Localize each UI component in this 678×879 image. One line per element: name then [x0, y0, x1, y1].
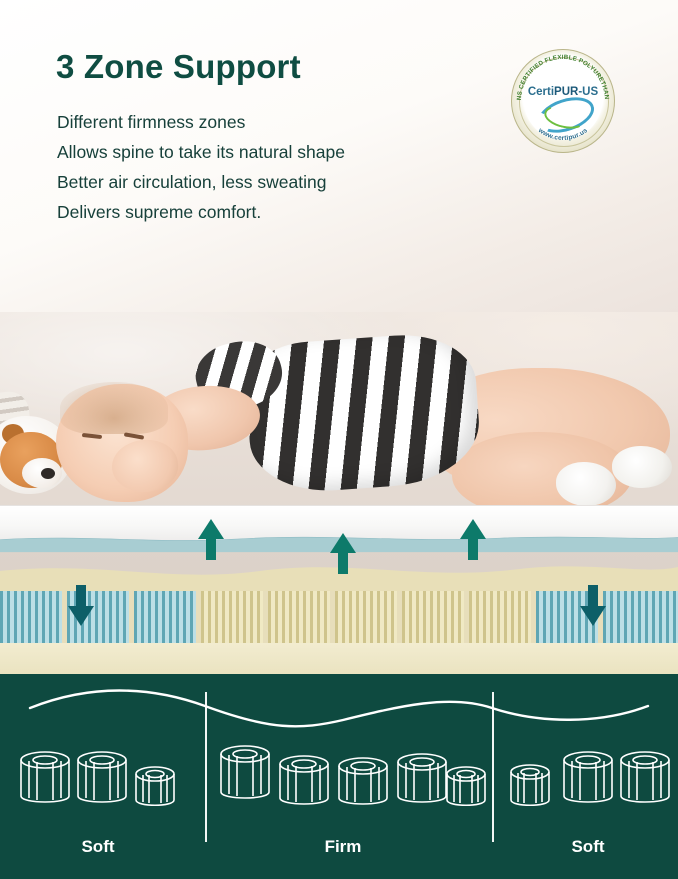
coil-icon-2: [78, 752, 126, 802]
baby-hair: [60, 382, 168, 434]
coil-icon-11: [621, 752, 669, 802]
feature-item-1: Different firmness zones: [57, 107, 487, 137]
badge-title-part2: PUR: [554, 86, 578, 98]
coil-icon-6: [339, 758, 387, 804]
coil-icon-5: [280, 756, 328, 804]
zone-label-soft-left: Soft: [48, 837, 148, 857]
coil-icon-8: [447, 767, 485, 805]
coil-icon-7: [398, 754, 446, 802]
badge-title-part1: Certi: [528, 86, 554, 98]
coil-block-teal-1: [0, 591, 62, 643]
page-title: 3 Zone Support: [56, 48, 301, 86]
coil-icon-1: [21, 752, 69, 802]
feature-item-4: Delivers supreme comfort.: [57, 197, 487, 227]
coil-block-cream-5: [469, 591, 531, 643]
mattress-coil-layer: [0, 591, 678, 643]
product-infographic: 3 Zone Support Different firmness zones …: [0, 0, 678, 879]
coil-icon-4: [221, 746, 269, 798]
feature-item-2: Allows spine to take its natural shape: [57, 137, 487, 167]
zone-diagram-panel: Soft Firm Soft: [0, 674, 678, 879]
feature-list: Different firmness zones Allows spine to…: [57, 107, 487, 227]
baby-sock-right: [612, 446, 672, 488]
coil-block-cream-2: [268, 591, 330, 643]
coil-icon-3: [136, 767, 174, 805]
mattress-base-layer: [0, 643, 678, 674]
coil-block-cream-3: [335, 591, 397, 643]
header-section: 3 Zone Support Different firmness zones …: [0, 0, 678, 312]
coil-block-cream-1: [201, 591, 263, 643]
plush-toy-nose: [41, 468, 55, 479]
mattress-cross-section: [0, 505, 678, 674]
badge-title: CertiPUR-US: [511, 86, 615, 98]
feature-item-3: Better air circulation, less sweating: [57, 167, 487, 197]
zone-label-firm: Firm: [293, 837, 393, 857]
certipur-us-badge: CONTAINS CERTIFIED FLEXIBLE POLYURETHANE…: [511, 49, 615, 153]
coil-block-cream-4: [402, 591, 464, 643]
baby-sock-left: [556, 462, 616, 506]
coil-block-teal-5: [603, 591, 678, 643]
coil-icon-10: [564, 752, 612, 802]
coil-block-teal-3: [134, 591, 196, 643]
zone-label-soft-right: Soft: [538, 837, 638, 857]
coil-icon-9: [511, 765, 549, 805]
baby-on-mattress-photo: [0, 312, 678, 674]
coil-illustration-row: [0, 734, 678, 844]
badge-title-part3: -US: [578, 86, 598, 98]
